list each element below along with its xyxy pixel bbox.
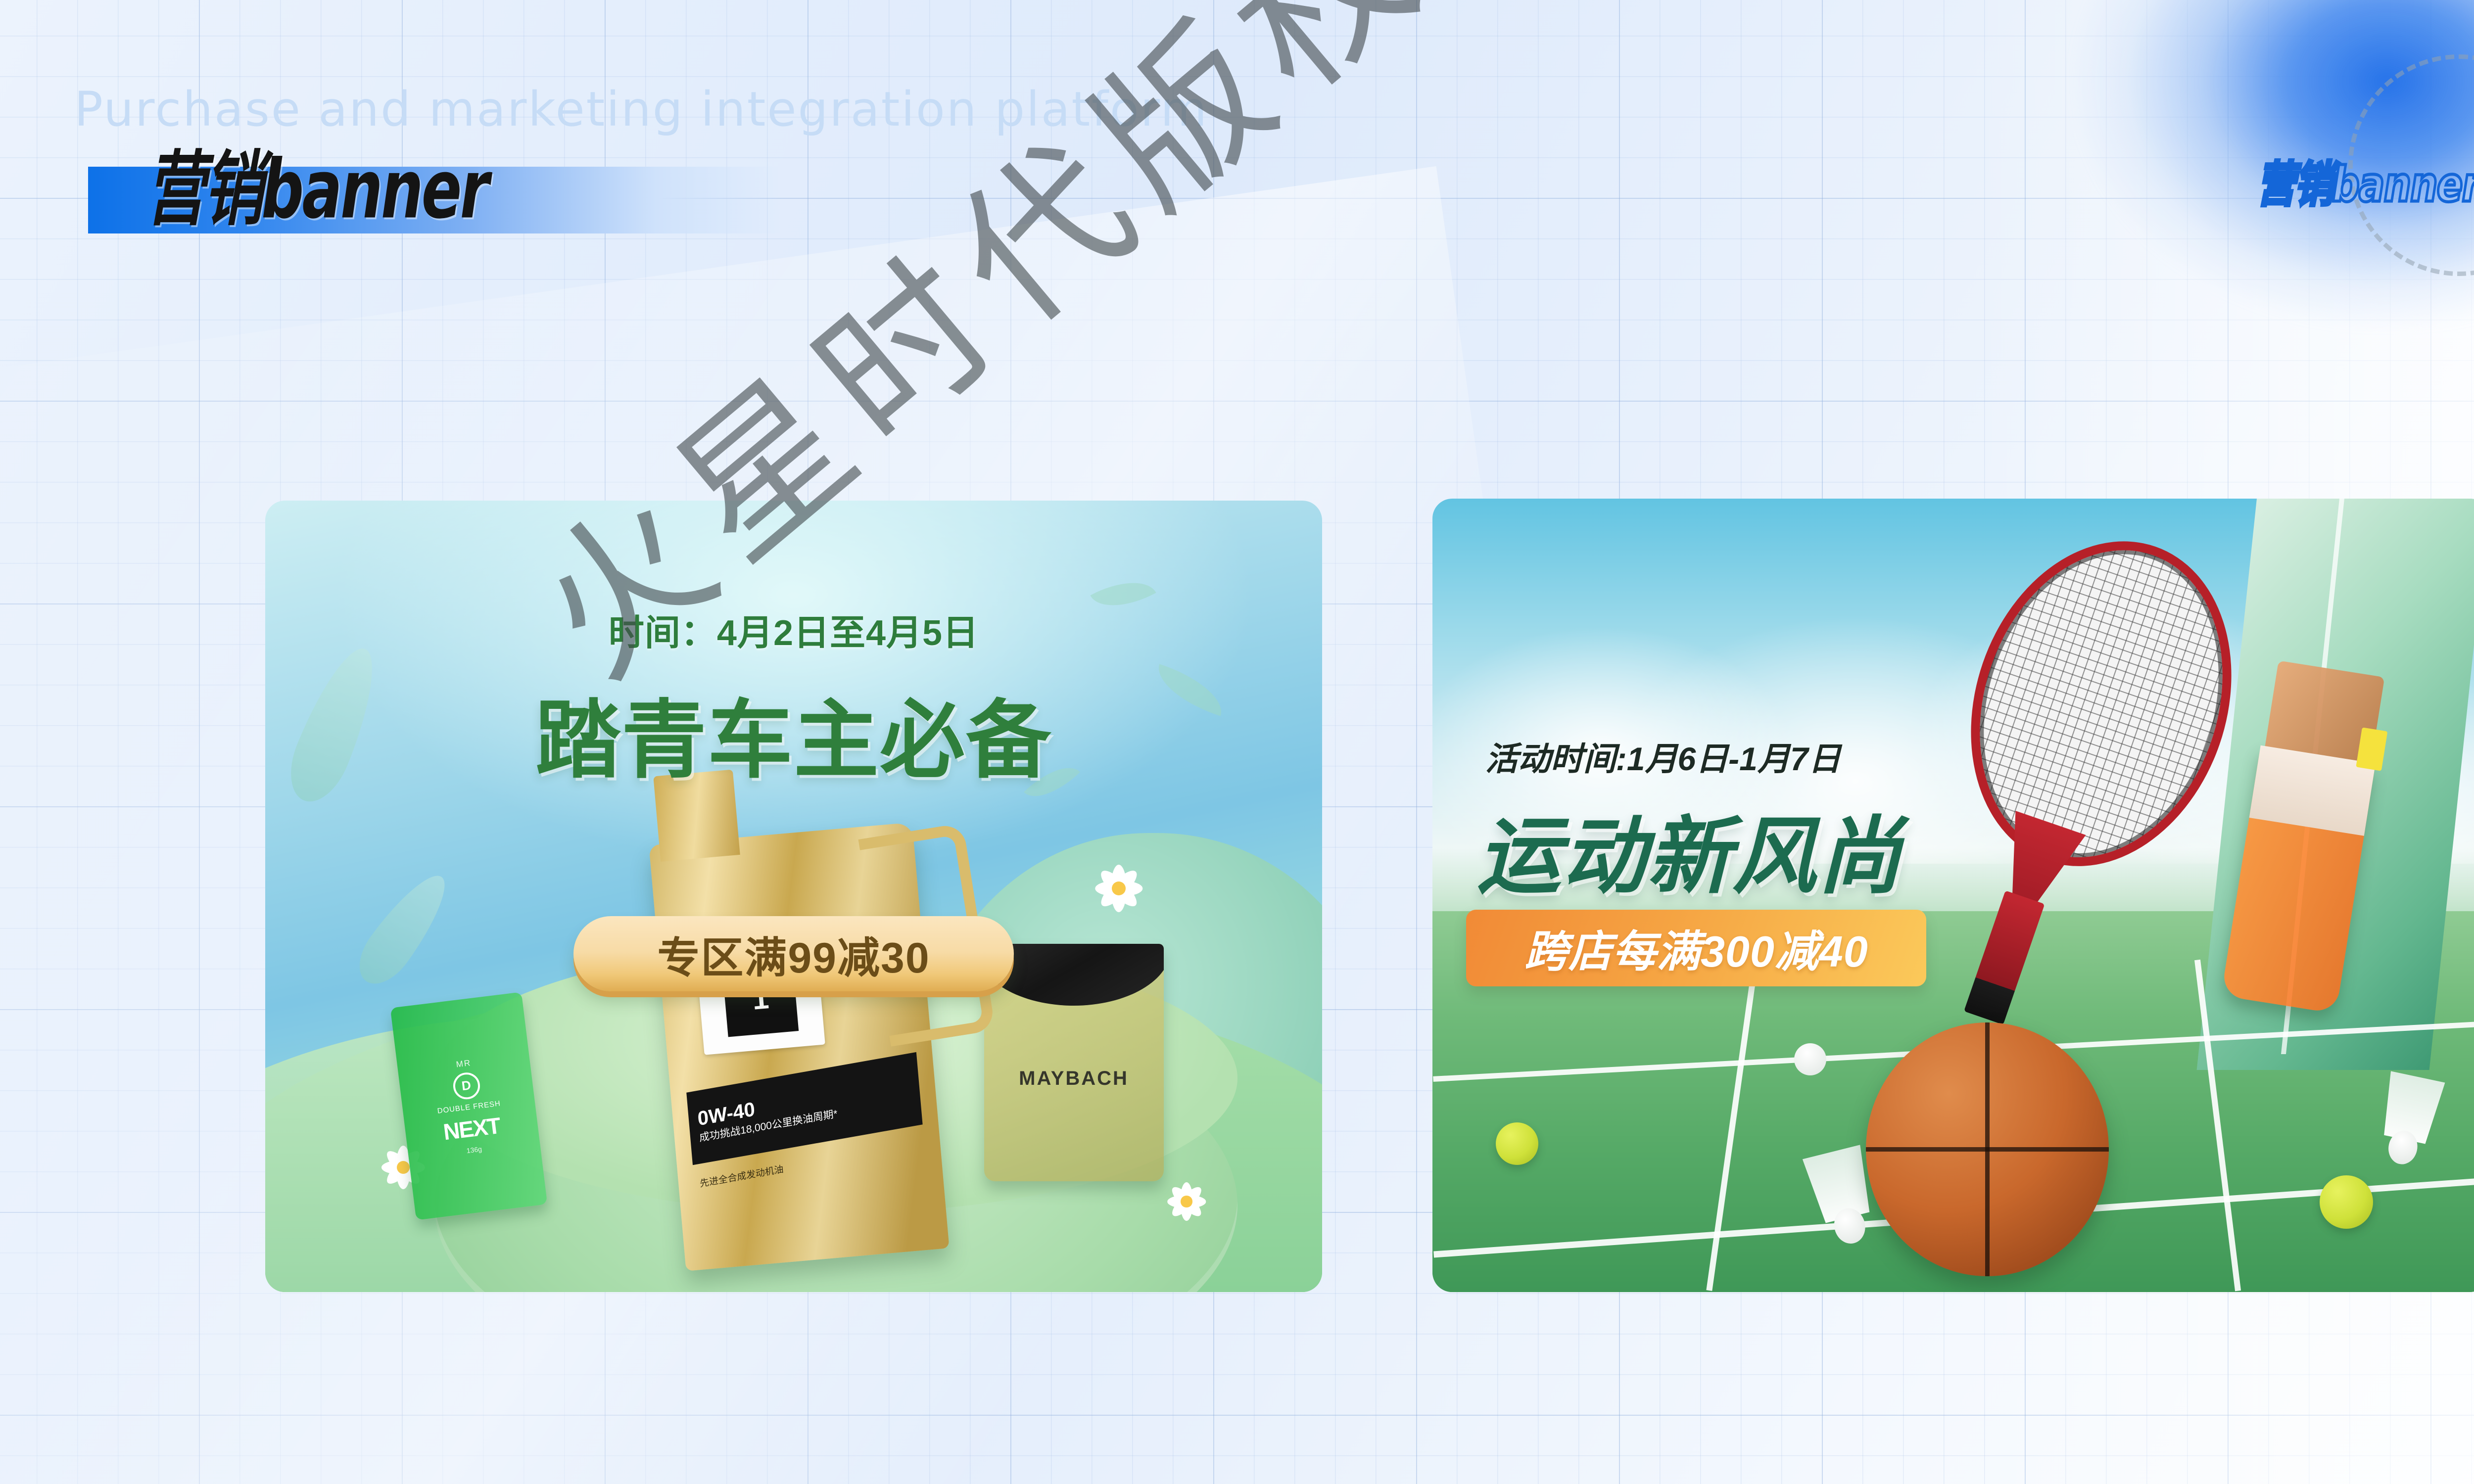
product-mobil-1-engine-oil: Mobil 1 0W-40 成功挑战18,000公里换油周期* 先进全合成发动机…: [649, 822, 949, 1271]
decor-flower: [1095, 865, 1142, 912]
banner-left-date: 时间：4月2日至4月5日: [265, 603, 1322, 655]
product-maybach-car-perfume: MAYBACH: [984, 944, 1164, 1181]
next-label-next: NEXT: [442, 1112, 501, 1145]
product-tennis-ball: [1496, 1122, 1538, 1165]
banner-right-promo-badge[interactable]: 跨店每满300减40: [1466, 910, 1926, 986]
product-tennis-ball: [2320, 1175, 2373, 1229]
next-label-d: D: [451, 1071, 481, 1101]
banner-right-date: 活动时间:1月6日-1月7日: [1485, 733, 1841, 780]
banner-card-sports-trend[interactable]: 活动时间:1月6日-1月7日 运动新风尚 跨店每满300减40: [1432, 499, 2474, 1292]
decor-flower: [1167, 1182, 1206, 1221]
product-next-air-freshener: MR D DOUBLE FRESH NEXT 136g: [390, 992, 547, 1220]
racket-grip: [1963, 890, 2045, 1025]
banner-left-promo-badge[interactable]: 专区满99减30: [573, 916, 1014, 991]
perfume-brand-label: MAYBACH: [984, 1067, 1164, 1090]
banner-left-headline: 踏青车主必备: [265, 671, 1322, 794]
next-label-mr: MR: [455, 1058, 472, 1069]
product-li-ning-basketball: [1866, 1022, 2109, 1276]
shuttle-cork: [1794, 1043, 1826, 1075]
banner-right-headline: 运动新风尚: [1477, 788, 1903, 910]
next-label-weight: 136g: [466, 1145, 482, 1155]
product-badminton-shuttlecock: [1792, 1041, 1828, 1078]
banner-card-spring-outing[interactable]: MR D DOUBLE FRESH NEXT 136g MAYBACH Mobi…: [265, 501, 1322, 1292]
page-title: 营销banner: [146, 124, 487, 241]
brand-logo-top-right: 营销banner: [2257, 146, 2474, 215]
decor-grass-blade: [348, 864, 460, 994]
basketball-seam: [1978, 1022, 2109, 1276]
poster-canvas: Purchase and marketing integration platf…: [0, 0, 2474, 1484]
